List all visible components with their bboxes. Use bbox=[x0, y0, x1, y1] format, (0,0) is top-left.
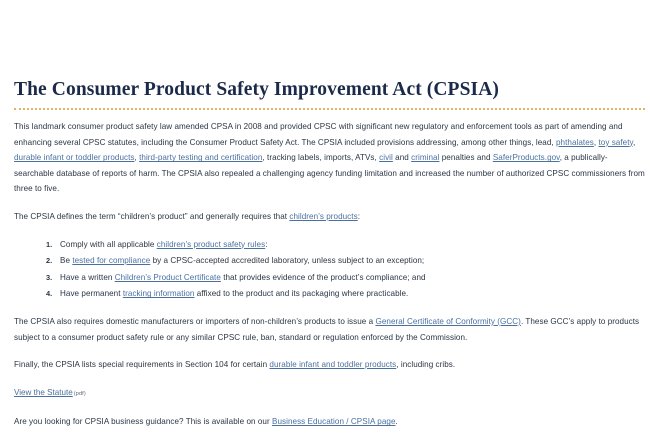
list-item-text-2: : bbox=[265, 240, 267, 249]
link-civil[interactable]: civil bbox=[379, 153, 393, 162]
requirements-list: Comply with all applicable children’s pr… bbox=[14, 237, 646, 302]
link-childrens-product-safety-rules[interactable]: children’s product safety rules bbox=[157, 240, 265, 249]
link-childrens-product-certificate[interactable]: Children’s Product Certificate bbox=[115, 273, 221, 282]
intro-text-6: and bbox=[393, 153, 411, 162]
gcc-paragraph: The CPSIA also requires domestic manufac… bbox=[14, 314, 646, 345]
list-item-text-2: that provides evidence of the product’s … bbox=[221, 273, 426, 282]
link-toy-safety[interactable]: toy safety bbox=[598, 138, 633, 147]
link-tracking-information[interactable]: tracking information bbox=[123, 289, 195, 298]
link-view-the-statute[interactable]: View the Statute bbox=[14, 388, 73, 397]
definition-paragraph: The CPSIA defines the term “children’s p… bbox=[14, 209, 646, 225]
intro-text-5: , tracking labels, imports, ATVs, bbox=[262, 153, 379, 162]
link-business-education-cpsia-page[interactable]: Business Education / CPSIA page bbox=[272, 417, 395, 426]
link-saferproducts-gov[interactable]: SaferProducts.gov bbox=[493, 153, 560, 162]
list-item-text-1: Have a written bbox=[60, 273, 115, 282]
link-durable-infant-toddler-products[interactable]: durable infant or toddler products bbox=[14, 153, 134, 162]
link-criminal[interactable]: criminal bbox=[411, 153, 439, 162]
gcc-text-1: The CPSIA also requires domestic manufac… bbox=[14, 317, 376, 326]
list-item-text-1: Have permanent bbox=[60, 289, 123, 298]
definition-text-2: : bbox=[358, 212, 360, 221]
section-104-text-1: Finally, the CPSIA lists special require… bbox=[14, 360, 269, 369]
business-guidance-text-1: Are you looking for CPSIA business guida… bbox=[14, 417, 272, 426]
section-104-paragraph: Finally, the CPSIA lists special require… bbox=[14, 357, 646, 373]
list-item: Be tested for compliance by a CPSC-accep… bbox=[60, 253, 646, 269]
intro-text-3: , bbox=[633, 138, 635, 147]
intro-text-1: This landmark consumer product safety la… bbox=[14, 122, 623, 147]
document-page: The Consumer Product Safety Improvement … bbox=[0, 0, 650, 433]
list-item-text-2: by a CPSC-accepted accredited laboratory… bbox=[150, 256, 424, 265]
title-divider bbox=[14, 108, 645, 110]
business-guidance-text-2: . bbox=[396, 417, 398, 426]
document-content: The Consumer Product Safety Improvement … bbox=[14, 78, 646, 442]
list-item: Comply with all applicable children’s pr… bbox=[60, 237, 646, 253]
page-title: The Consumer Product Safety Improvement … bbox=[14, 78, 646, 102]
list-item-text-2: affixed to the product and its packaging… bbox=[194, 289, 408, 298]
link-third-party-testing[interactable]: third-party testing and certification bbox=[139, 153, 262, 162]
list-item-text-1: Be bbox=[60, 256, 72, 265]
link-childrens-products[interactable]: children’s products bbox=[289, 212, 357, 221]
list-item-text-1: Comply with all applicable bbox=[60, 240, 157, 249]
intro-paragraph: This landmark consumer product safety la… bbox=[14, 119, 646, 197]
section-104-text-2: , including cribs. bbox=[396, 360, 455, 369]
link-durable-infant-and-toddler-products[interactable]: durable infant and toddler products bbox=[269, 360, 396, 369]
list-item: Have permanent tracking information affi… bbox=[60, 286, 646, 302]
link-tested-for-compliance[interactable]: tested for compliance bbox=[72, 256, 150, 265]
view-statute-line: View the Statute(PDF) bbox=[14, 385, 646, 403]
definition-text-1: The CPSIA defines the term “children’s p… bbox=[14, 212, 289, 221]
link-general-certificate-of-conformity[interactable]: General Certificate of Conformity (GCC) bbox=[376, 317, 521, 326]
business-guidance-paragraph: Are you looking for CPSIA business guida… bbox=[14, 414, 646, 430]
list-item: Have a written Children’s Product Certif… bbox=[60, 270, 646, 286]
link-phthalates[interactable]: phthalates bbox=[556, 138, 594, 147]
intro-text-7: penalties and bbox=[439, 153, 492, 162]
pdf-file-type-tag: (PDF) bbox=[73, 391, 86, 397]
